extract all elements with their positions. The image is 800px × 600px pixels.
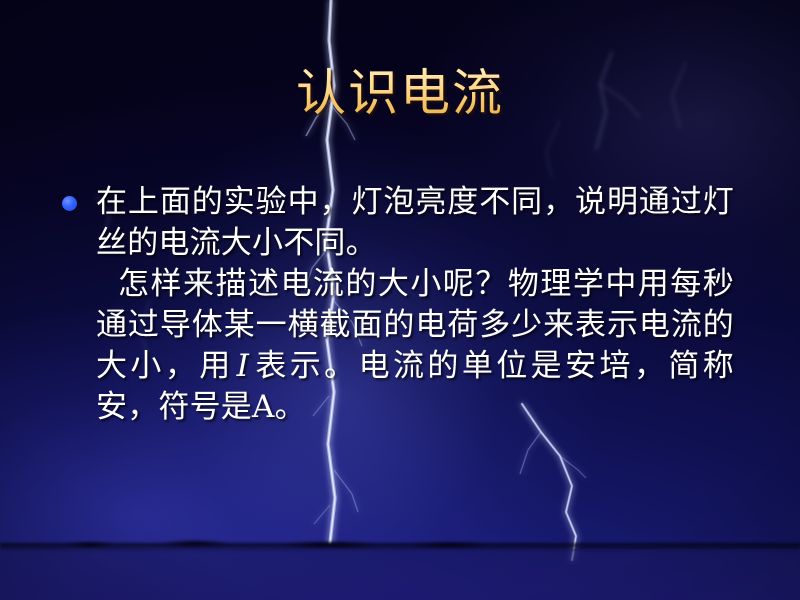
- bullet-marker-cell-1: [62, 182, 96, 211]
- current-symbol-italic: I: [234, 348, 252, 384]
- bullet-item-2: 怎样来描述电流的大小呢？物理学中用每秒通过导体某一横截面的电荷多少来表示电流的大…: [62, 264, 734, 428]
- ground-plane: [0, 549, 800, 600]
- bullet-marker-cell-2: [62, 264, 96, 278]
- slide-body: 在上面的实验中，灯泡亮度不同，说明通过灯丝的电流大小不同。 怎样来描述电流的大小…: [62, 182, 734, 428]
- slide-title: 认识电流: [0, 62, 800, 124]
- bullet-dot-icon: [62, 196, 77, 211]
- bullet-text-1: 在上面的实验中，灯泡亮度不同，说明通过灯丝的电流大小不同。: [96, 182, 734, 264]
- bullet-text-2: 怎样来描述电流的大小呢？物理学中用每秒通过导体某一横截面的电荷多少来表示电流的大…: [96, 264, 734, 428]
- bullet-item-1: 在上面的实验中，灯泡亮度不同，说明通过灯丝的电流大小不同。: [62, 182, 734, 264]
- slide-canvas: 认识电流 在上面的实验中，灯泡亮度不同，说明通过灯丝的电流大小不同。 怎样来描述…: [0, 0, 800, 600]
